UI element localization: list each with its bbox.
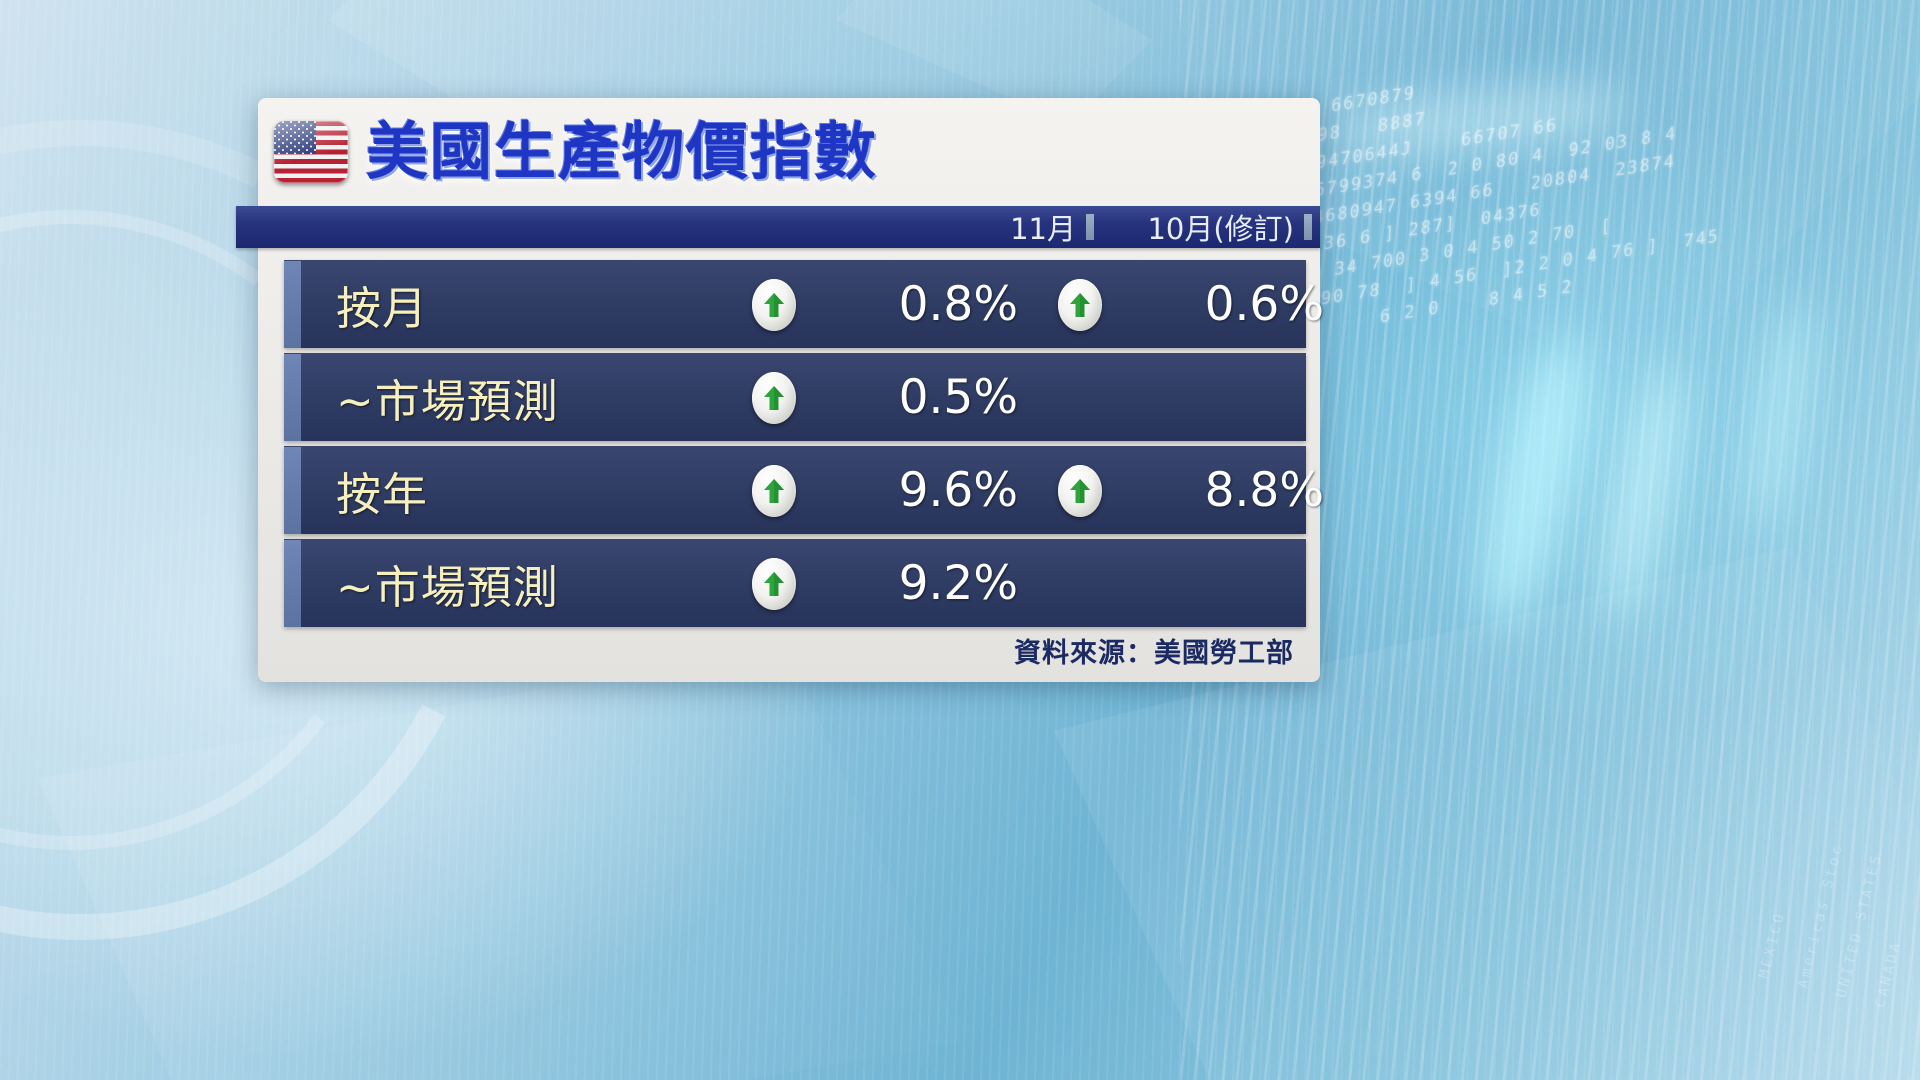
arrow-up-icon (714, 465, 834, 517)
column-header-month-revised: 10月(修訂) (1100, 206, 1298, 248)
table-row: 按月 0.8% 0.6% (284, 260, 1306, 348)
table-body: 按月 0.8% 0.6% ~市場預測 0.5% (284, 260, 1306, 632)
row-value-current: 0.5% (834, 370, 1020, 425)
card-title-row: 美國生產物價指數 (258, 98, 1320, 206)
row-value-revised: 0.6% (1140, 277, 1326, 332)
column-tick-2 (1298, 214, 1318, 240)
arrow-up-icon (1020, 465, 1140, 517)
row-value-current: 9.6% (834, 463, 1020, 518)
arrow-up-icon (714, 279, 834, 331)
row-label: 按月 (284, 272, 714, 337)
table-row: 按年 9.6% 8.8% (284, 446, 1306, 534)
column-tick-1 (1080, 214, 1100, 240)
table-row: ~市場預測 9.2% (284, 539, 1306, 627)
row-label: ~市場預測 (284, 551, 714, 616)
arrow-up-icon (714, 558, 834, 610)
row-value-current: 9.2% (834, 556, 1020, 611)
row-value-revised: 8.8% (1140, 463, 1326, 518)
row-value-current: 0.8% (834, 277, 1020, 332)
table-row: ~市場預測 0.5% (284, 353, 1306, 441)
broadcast-graphic-stage: 6670879 98 8887 9470644J 66707 66 679937… (0, 0, 1920, 1080)
row-label: ~市場預測 (284, 365, 714, 430)
arrow-placeholder (1020, 558, 1140, 610)
table-header-band: 11月 10月(修訂) (236, 206, 1320, 248)
arrow-up-icon (1020, 279, 1140, 331)
column-header-month-current: 11月 (882, 206, 1080, 248)
statistics-card: 美國生產物價指數 11月 10月(修訂) 按月 0.8% 0.6% (258, 98, 1320, 682)
flag-gloss-overlay (274, 121, 348, 183)
us-flag-icon (274, 121, 348, 183)
row-label: 按年 (284, 458, 714, 523)
arrow-placeholder (1020, 372, 1140, 424)
page-title: 美國生產物價指數 (366, 121, 878, 183)
source-attribution: 資料來源：美國勞工部 (1014, 631, 1294, 670)
arrow-up-icon (714, 372, 834, 424)
